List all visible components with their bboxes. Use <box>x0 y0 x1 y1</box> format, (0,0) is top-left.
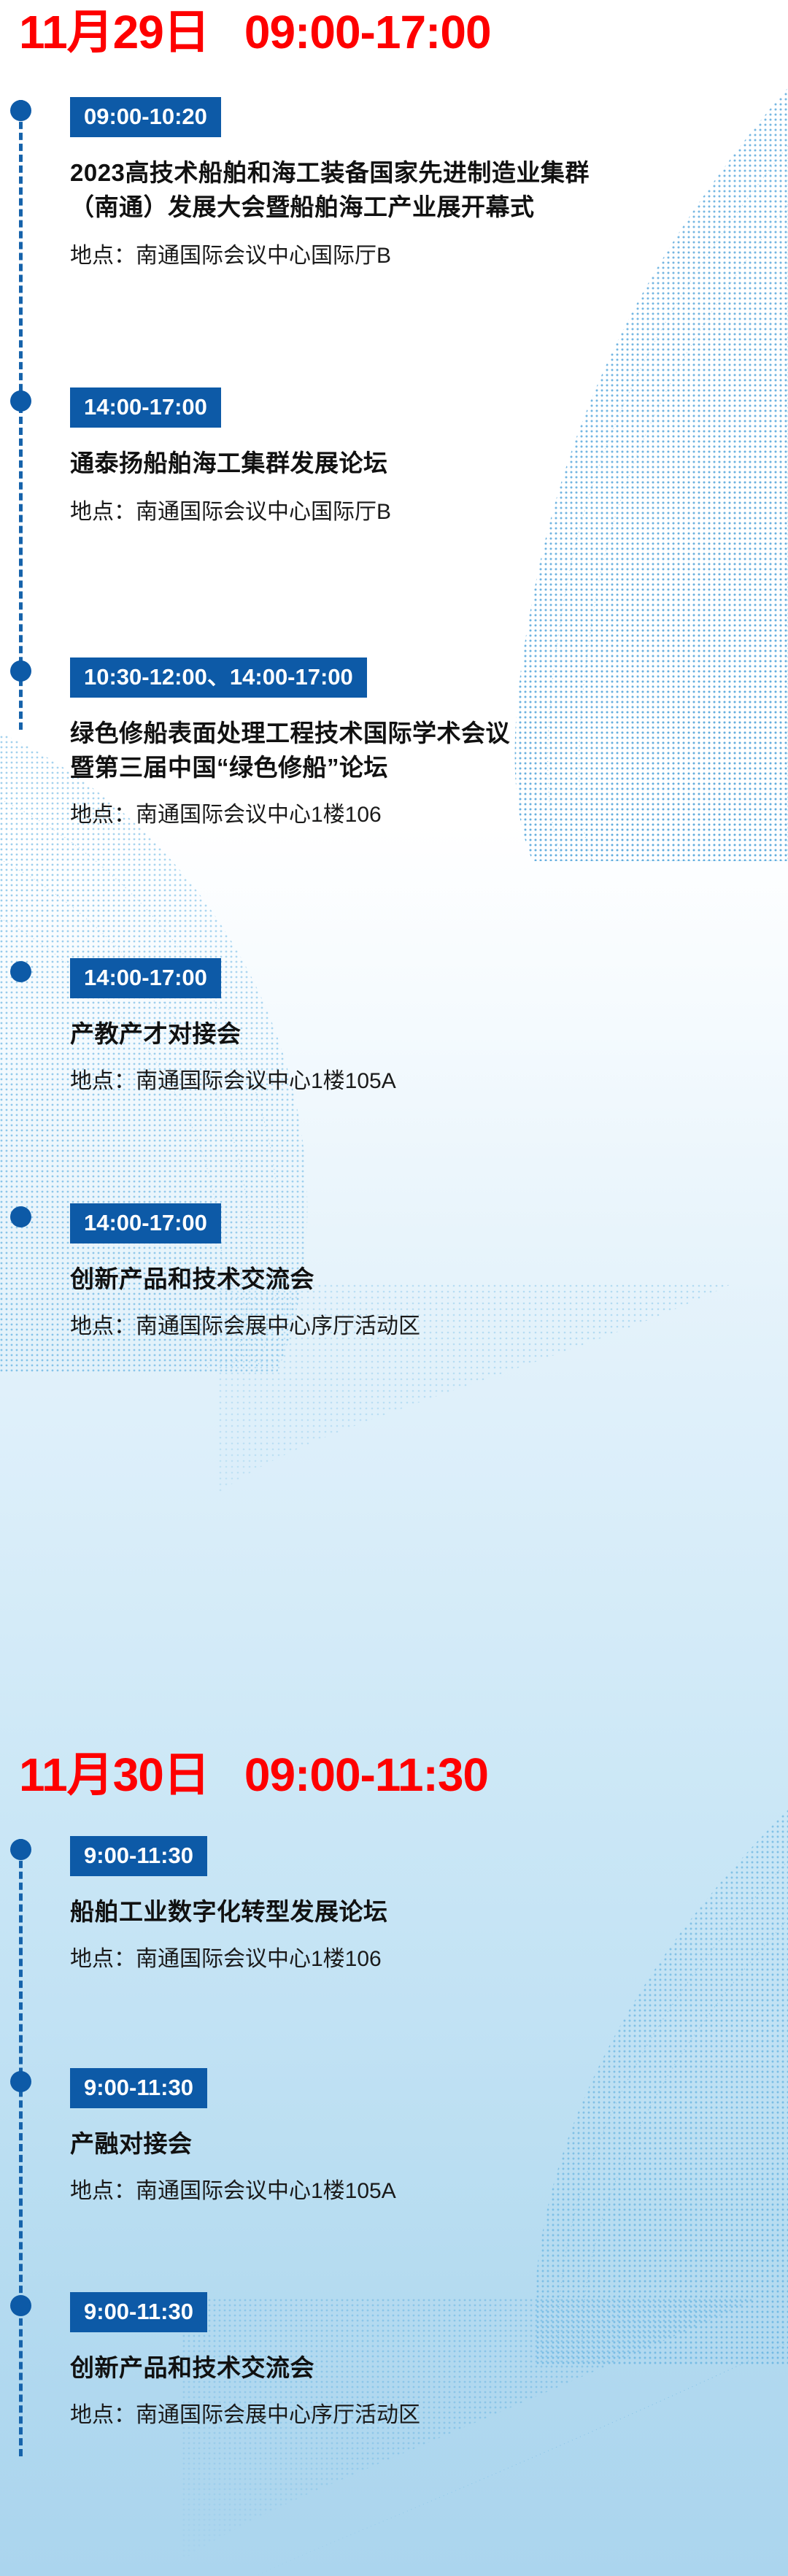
event-time-badge: 09:00-10:20 <box>70 97 221 137</box>
event-title: 产教产才对接会 <box>70 1017 766 1052</box>
event-time-badge: 9:00-11:30 <box>70 2068 207 2108</box>
timeline-dot-icon <box>10 390 31 412</box>
timeline-day-2: 9:00-11:30 船舶工业数字化转型发展论坛 地点：南通国际会议中心1楼10… <box>0 1836 788 2576</box>
event-title-line: 产融对接会 <box>70 2127 766 2162</box>
event-title-line: 绿色修船表面处理工程技术国际学术会议 <box>70 717 766 751</box>
timeline-dot-icon <box>10 1206 31 1227</box>
event-title-line: 通泰扬船舶海工集群发展论坛 <box>70 447 766 481</box>
day-section-1: 11月29日 09:00-17:00 09:00-10:20 2023高技术船舶… <box>0 0 788 1496</box>
day-time-label: 09:00-11:30 <box>244 1751 488 1798</box>
timeline-event[interactable]: 9:00-11:30 船舶工业数字化转型发展论坛 地点：南通国际会议中心1楼10… <box>0 1836 788 1975</box>
event-title: 产融对接会 <box>70 2127 766 2162</box>
event-title: 创新产品和技术交流会 <box>70 2351 766 2386</box>
timeline-dot-icon <box>10 961 31 982</box>
timeline-event[interactable]: 14:00-17:00 通泰扬船舶海工集群发展论坛 地点：南通国际会议中心国际厅… <box>0 387 788 528</box>
event-time-badge: 9:00-11:30 <box>70 2292 207 2332</box>
timeline-event[interactable]: 9:00-11:30 创新产品和技术交流会 地点：南通国际会展中心序厅活动区 <box>0 2292 788 2431</box>
timeline-event[interactable]: 09:00-10:20 2023高技术船舶和海工装备国家先进制造业集群 （南通）… <box>0 97 788 271</box>
event-title-line: 产教产才对接会 <box>70 1017 766 1052</box>
timeline-dot-icon <box>10 660 31 682</box>
event-title: 船舶工业数字化转型发展论坛 <box>70 1895 766 1929</box>
day-date-label: 11月29日 <box>19 9 209 55</box>
timeline-event[interactable]: 14:00-17:00 产教产才对接会 地点：南通国际会议中心1楼105A <box>0 958 788 1097</box>
event-title-line: （南通）发展大会暨船舶海工产业展开幕式 <box>70 190 766 225</box>
timeline-day-1: 09:00-10:20 2023高技术船舶和海工装备国家先进制造业集群 （南通）… <box>0 97 788 1496</box>
event-location: 地点：南通国际会议中心1楼105A <box>70 1066 766 1097</box>
event-location: 地点：南通国际会展中心序厅活动区 <box>70 1311 766 1342</box>
event-location: 地点：南通国际会议中心国际厅B <box>70 497 766 528</box>
event-title-line: 创新产品和技术交流会 <box>70 2351 766 2386</box>
event-time-badge: 9:00-11:30 <box>70 1836 207 1876</box>
event-title: 通泰扬船舶海工集群发展论坛 <box>70 447 766 481</box>
event-title-line: 创新产品和技术交流会 <box>70 1262 766 1297</box>
day-header-1: 11月29日 09:00-17:00 <box>0 0 788 55</box>
event-title-line: 暨第三届中国“绿色修船”论坛 <box>70 751 766 785</box>
day-time-label: 09:00-17:00 <box>244 9 491 55</box>
event-location: 地点：南通国际会展中心序厅活动区 <box>70 2400 766 2431</box>
event-title: 2023高技术船舶和海工装备国家先进制造业集群 （南通）发展大会暨船舶海工产业展… <box>70 156 766 225</box>
timeline-dot-icon <box>10 2071 31 2092</box>
day-date-label: 11月30日 <box>19 1751 209 1798</box>
timeline-event[interactable]: 10:30-12:00、14:00-17:00 绿色修船表面处理工程技术国际学术… <box>0 658 788 830</box>
event-title: 创新产品和技术交流会 <box>70 1262 766 1297</box>
event-title-line: 2023高技术船舶和海工装备国家先进制造业集群 <box>70 156 766 190</box>
timeline-event[interactable]: 9:00-11:30 产融对接会 地点：南通国际会议中心1楼105A <box>0 2068 788 2207</box>
timeline-dot-icon <box>10 100 31 121</box>
event-title-line: 船舶工业数字化转型发展论坛 <box>70 1895 766 1929</box>
event-time-badge: 10:30-12:00、14:00-17:00 <box>70 658 367 698</box>
schedule-poster: 11月29日 09:00-17:00 09:00-10:20 2023高技术船舶… <box>0 0 788 2576</box>
timeline-dot-icon <box>10 2295 31 2316</box>
event-time-badge: 14:00-17:00 <box>70 387 221 428</box>
event-title: 绿色修船表面处理工程技术国际学术会议 暨第三届中国“绿色修船”论坛 <box>70 717 766 785</box>
schedule-content: 11月29日 09:00-17:00 09:00-10:20 2023高技术船舶… <box>0 0 788 2576</box>
timeline-dot-icon <box>10 1839 31 1860</box>
timeline-event[interactable]: 14:00-17:00 创新产品和技术交流会 地点：南通国际会展中心序厅活动区 <box>0 1203 788 1342</box>
event-time-badge: 14:00-17:00 <box>70 958 221 998</box>
event-location: 地点：南通国际会议中心1楼106 <box>70 1944 766 1975</box>
event-location: 地点：南通国际会议中心国际厅B <box>70 241 766 271</box>
event-location: 地点：南通国际会议中心1楼106 <box>70 800 766 830</box>
event-location: 地点：南通国际会议中心1楼105A <box>70 2176 766 2207</box>
event-time-badge: 14:00-17:00 <box>70 1203 221 1243</box>
